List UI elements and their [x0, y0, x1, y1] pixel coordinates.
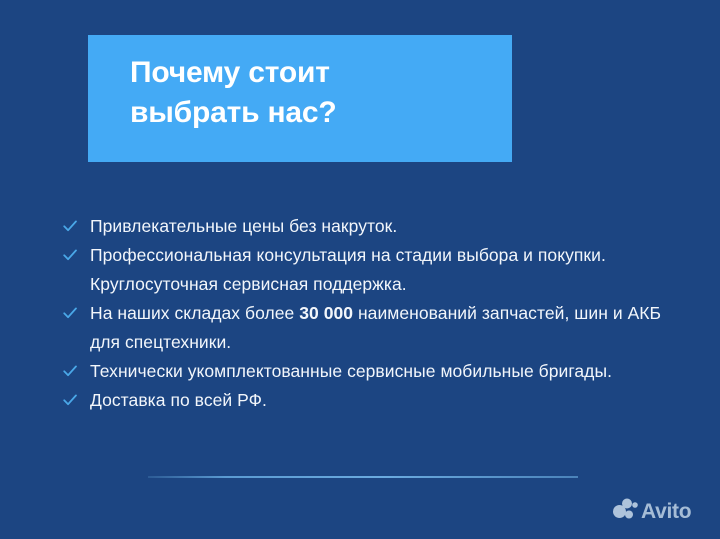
- check-icon: [62, 218, 78, 234]
- list-item-text-before: Технически укомплектованные сервисные мо…: [90, 361, 612, 381]
- list-item-text-before: Доставка по всей РФ.: [90, 390, 267, 410]
- avito-watermark: Avito: [612, 498, 691, 525]
- list-item-text: На наших складах более 30 000 наименован…: [90, 303, 661, 351]
- list-item-highlight: 30 000: [299, 303, 353, 323]
- page-title: Почему стоит выбрать нас?: [130, 53, 500, 133]
- list-item-text: Доставка по всей РФ.: [90, 390, 267, 410]
- list-item-text: Технически укомплектованные сервисные мо…: [90, 361, 612, 381]
- check-icon: [62, 247, 78, 263]
- list-item-text-before: На наших складах более: [90, 303, 299, 323]
- list-item-text-before: Привлекательные цены без накруток.: [90, 216, 397, 236]
- list-item: Профессиональная консультация на стадии …: [62, 241, 672, 298]
- avito-dots-icon: [612, 498, 638, 525]
- check-icon: [62, 363, 78, 379]
- heading-banner: Почему стоит выбрать нас?: [88, 35, 512, 162]
- list-item: Технически укомплектованные сервисные мо…: [62, 357, 672, 385]
- horizontal-divider: [148, 476, 578, 478]
- list-item-text: Привлекательные цены без накруток.: [90, 216, 397, 236]
- list-item-text-before: Профессиональная консультация на стадии …: [90, 245, 606, 293]
- list-item: Привлекательные цены без накруток.: [62, 212, 672, 240]
- list-item: Доставка по всей РФ.: [62, 386, 672, 414]
- check-icon: [62, 392, 78, 408]
- list-item-text: Профессиональная консультация на стадии …: [90, 245, 606, 293]
- slide-canvas: Почему стоит выбрать нас? Привлекательны…: [0, 0, 720, 539]
- avito-wordmark: Avito: [641, 501, 691, 522]
- check-icon: [62, 305, 78, 321]
- list-item: На наших складах более 30 000 наименован…: [62, 299, 672, 356]
- benefits-list: Привлекательные цены без накруток. Профе…: [62, 212, 672, 416]
